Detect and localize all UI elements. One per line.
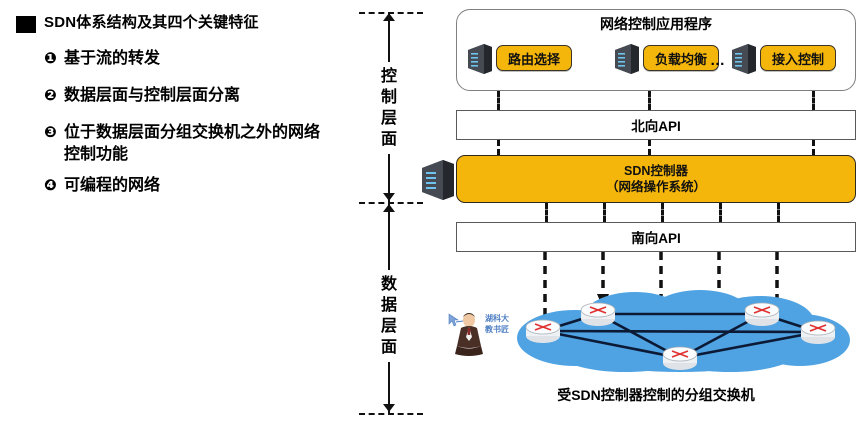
sdn-controller-title: SDN控制器 bbox=[624, 163, 688, 179]
northbound-api-box: 北向API bbox=[456, 110, 856, 140]
slide-canvas: SDN体系结构及其四个关键特征 ❶基于流的转发 ❷数据层面与控制层面分离 ❸位于… bbox=[0, 0, 868, 421]
app-access-control-label[interactable]: 接入控制 bbox=[760, 45, 836, 71]
app-load-balancing[interactable]: 负载均衡 bbox=[615, 44, 725, 72]
watermark-line-2: 教书匠 bbox=[485, 324, 529, 335]
connector-controller-to-south-3 bbox=[661, 203, 664, 222]
sdn-controller-subtitle: （网络操作系统） bbox=[606, 179, 706, 195]
router-top-left bbox=[581, 303, 615, 326]
router-bottom bbox=[663, 347, 697, 370]
packet-switch-cloud bbox=[505, 288, 855, 373]
app-access-control[interactable]: 接入控制 bbox=[732, 44, 842, 72]
connector-app-to-north-1 bbox=[497, 91, 500, 110]
pointer-hand-icon bbox=[449, 314, 458, 326]
connector-controller-to-south-4 bbox=[719, 203, 722, 222]
server-icon bbox=[468, 44, 492, 74]
connector-app-to-north-2 bbox=[648, 91, 651, 110]
connector-controller-to-south-1 bbox=[545, 203, 548, 222]
app-load-balancing-label[interactable]: 负载均衡 bbox=[643, 45, 719, 71]
cloud-caption: 受SDN控制器控制的分组交换机 bbox=[456, 385, 856, 405]
sdn-architecture-diagram: 网络控制应用程序 路由选择 bbox=[0, 0, 868, 421]
watermark-line-1: 湖科大 bbox=[485, 313, 529, 324]
connector-app-to-north-3 bbox=[812, 91, 815, 110]
router-right bbox=[801, 321, 835, 344]
sdn-controller-box[interactable]: SDN控制器 （网络操作系统） bbox=[456, 155, 856, 203]
server-icon bbox=[732, 44, 756, 74]
app-routing[interactable]: 路由选择 bbox=[468, 44, 578, 72]
apps-ellipsis: … bbox=[710, 52, 726, 69]
connector-controller-to-south-2 bbox=[603, 203, 606, 222]
southbound-api-box: 南向API bbox=[456, 222, 856, 252]
router-left bbox=[526, 320, 560, 343]
connector-north-to-controller-3 bbox=[812, 140, 815, 155]
connector-controller-to-south-5 bbox=[777, 203, 780, 222]
app-routing-label[interactable]: 路由选择 bbox=[496, 45, 572, 71]
pointer-stick bbox=[456, 321, 463, 322]
watermark-text: 湖科大 教书匠 bbox=[485, 313, 529, 335]
server-icon bbox=[422, 160, 454, 200]
network-control-applications-title: 网络控制应用程序 bbox=[456, 14, 856, 34]
server-icon bbox=[615, 44, 639, 74]
connector-north-to-controller-2 bbox=[648, 140, 651, 155]
connector-north-to-controller-1 bbox=[497, 140, 500, 155]
teacher-figure bbox=[455, 313, 483, 356]
router-top-right bbox=[745, 303, 779, 326]
